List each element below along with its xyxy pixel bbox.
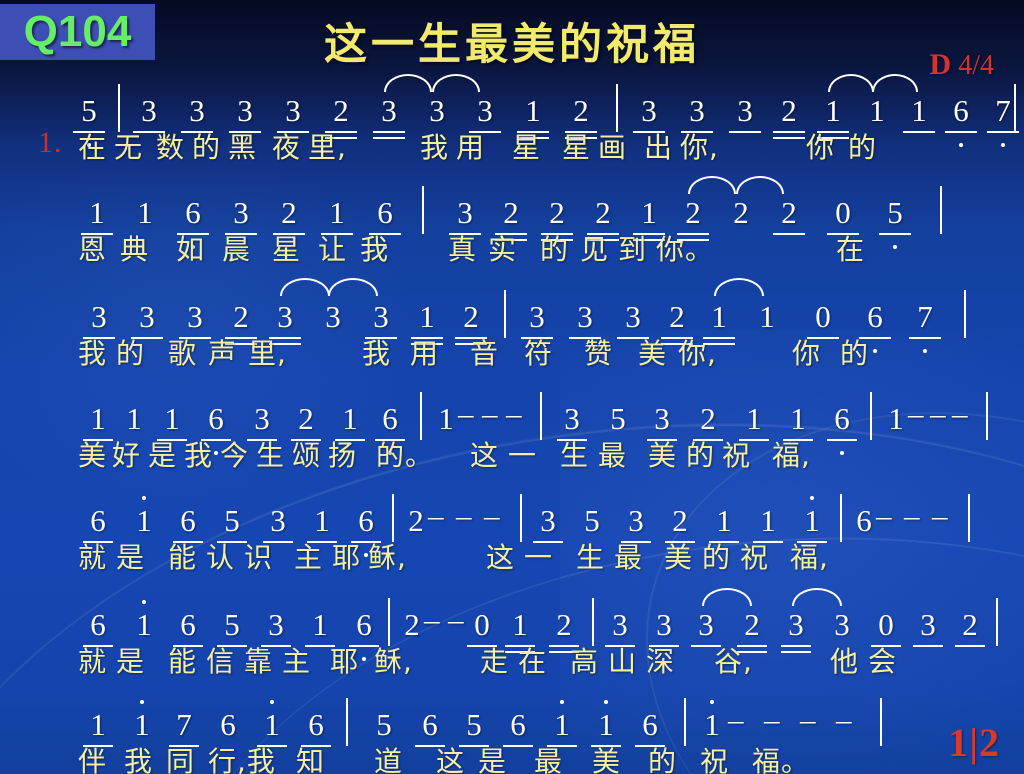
lyric-syllable: 美 bbox=[638, 332, 667, 372]
lyric-syllable: 深 bbox=[646, 640, 675, 680]
lyric-syllable: 耶 bbox=[330, 640, 359, 680]
lyric-syllable: 星 bbox=[272, 228, 301, 268]
lyric-syllable: 星 bbox=[562, 126, 591, 166]
lyric-syllable: 美 bbox=[664, 536, 693, 576]
lyric-syllable: 让 bbox=[318, 228, 347, 268]
lyric-syllable: 美 bbox=[78, 434, 107, 474]
lyric-syllable: 认 bbox=[206, 536, 235, 576]
lyric-syllable: 一 bbox=[508, 434, 537, 474]
lyric-syllable: 是 bbox=[116, 640, 145, 680]
lyric-syllable: 伴 bbox=[78, 740, 107, 774]
lyric-syllable: 福, bbox=[790, 536, 829, 576]
lyric-row-1: 1. 在 无 数 的 黑 夜 里, 我 用 星 星 画 出 你, 你 的 bbox=[0, 126, 1024, 180]
lyric-syllable: 知 bbox=[296, 740, 325, 774]
lyric-syllable: 祝 bbox=[700, 740, 729, 774]
lyric-syllable: 祝 bbox=[740, 536, 769, 576]
lyric-syllable: 的 bbox=[192, 126, 221, 166]
lyric-row-6: 就 是 能 信 靠 主 耶 稣, 走 在 高 山 深 谷, 他 会 bbox=[0, 640, 1024, 696]
lyric-syllable: 里, bbox=[308, 126, 347, 166]
lyric-syllable: 稣, bbox=[374, 640, 413, 680]
lyric-syllable: 同 bbox=[166, 740, 195, 774]
sheet-music: 5 3 3 3 3 2 3 3 3 1 2 3 3 3 2 1 1 1 6 7 bbox=[0, 78, 1024, 774]
lyric-syllable: 见 bbox=[580, 228, 609, 268]
lyric-syllable: 无 bbox=[114, 126, 143, 166]
lyric-syllable: 祝 bbox=[722, 434, 751, 474]
lyric-syllable: 音 bbox=[470, 332, 499, 372]
lyric-syllable: 生 bbox=[576, 536, 605, 576]
lyric-syllable: 会 bbox=[868, 640, 897, 680]
lyric-syllable: 就 bbox=[78, 536, 107, 576]
lyric-syllable: 福, bbox=[772, 434, 811, 474]
lyric-row-2: 恩 典 如 晨 星 让 我 真 实 的 见 到 你。 在 bbox=[0, 228, 1024, 284]
lyric-syllable: 我 bbox=[362, 332, 391, 372]
lyric-syllable: 今 bbox=[220, 434, 249, 474]
lyric-syllable: 一 bbox=[524, 536, 553, 576]
lyric-syllable: 数 bbox=[156, 126, 185, 166]
lyric-syllable: 生 bbox=[560, 434, 589, 474]
lyric-syllable: 的 bbox=[840, 332, 869, 372]
lyric-syllable: 夜 bbox=[272, 126, 301, 166]
note-row-3: 3 3 3 2 3 3 3 1 2 3 3 3 2 1 1 0 6 7 bbox=[0, 284, 1024, 332]
lyric-syllable: 在 bbox=[78, 126, 107, 166]
lyric-syllable: 走 bbox=[480, 640, 509, 680]
lyric-row-5: 就 是 能 认 识 主 耶 稣, 这 一 生 最 美 的 祝 福, bbox=[0, 536, 1024, 594]
lyric-syllable: 识 bbox=[244, 536, 273, 576]
key-signature: D 4/4 bbox=[930, 48, 994, 82]
lyric-syllable: 的。 bbox=[376, 434, 434, 474]
lyric-syllable: 你, bbox=[678, 332, 717, 372]
lyric-syllable: 你, bbox=[680, 126, 719, 166]
lyric-syllable: 的 bbox=[702, 536, 731, 576]
lyric-syllable: 能 bbox=[168, 640, 197, 680]
lyric-syllable: 赞 bbox=[584, 332, 613, 372]
lyric-row-7: 伴 我 同 行,我 知 道 这 是 最 美 的 祝 福。 bbox=[0, 740, 1024, 774]
lyric-syllable: 是 bbox=[116, 536, 145, 576]
lyric-syllable: 好 bbox=[112, 434, 141, 474]
lyric-syllable: 耶 bbox=[332, 536, 361, 576]
note-row-5: 6 1 6 5 3 1 6 2 – – – 3 5 3 2 1 1 1 6 – … bbox=[0, 490, 1024, 536]
lyric-syllable: 就 bbox=[78, 640, 107, 680]
lyric-syllable: 高 bbox=[570, 640, 599, 680]
lyric-syllable: 我 bbox=[124, 740, 153, 774]
lyric-syllable: 典 bbox=[120, 228, 149, 268]
lyric-syllable: 美 bbox=[648, 434, 677, 474]
lyric-syllable: 出 bbox=[644, 126, 673, 166]
note-row-6: 6 1 6 5 3 1 6 2 – – 0 1 2 3 3 3 2 3 3 0 … bbox=[0, 594, 1024, 640]
note-row-7: 1 1 7 6 1 6 5 6 5 6 1 1 6 1 – – – – bbox=[0, 696, 1024, 740]
lyric-syllable: 他 bbox=[830, 640, 859, 680]
lyric-syllable: 我 bbox=[184, 434, 213, 474]
lyric-syllable: 道 bbox=[374, 740, 403, 774]
lyric-syllable: 真 bbox=[448, 228, 477, 268]
lyric-syllable: 这 bbox=[436, 740, 465, 774]
lyric-row-3: 我 的 歌 声 里, 我 用 音 符 赞 美 你, 你 的 bbox=[0, 332, 1024, 388]
lyric-syllable: 如 bbox=[176, 228, 205, 268]
lyric-syllable: 你 bbox=[792, 332, 821, 372]
lyric-syllable: 最 bbox=[598, 434, 627, 474]
lyric-syllable: 恩 bbox=[78, 228, 107, 268]
lyric-syllable: 能 bbox=[168, 536, 197, 576]
note-row-1: 5 3 3 3 3 2 3 3 3 1 2 3 3 3 2 1 1 1 6 7 bbox=[0, 78, 1024, 126]
lyric-syllable: 是 bbox=[478, 740, 507, 774]
lyric-syllable: 谷, bbox=[714, 640, 753, 680]
key-letter: D bbox=[930, 48, 952, 81]
lyric-syllable: 晨 bbox=[222, 228, 251, 268]
lyric-syllable: 福。 bbox=[752, 740, 810, 774]
lyric-syllable: 声 bbox=[208, 332, 237, 372]
note-row-2: 1 1 6 3 2 1 6 3 2 2 2 1 2 2 2 0 5 bbox=[0, 180, 1024, 228]
lyric-syllable: 这 bbox=[470, 434, 499, 474]
lyric-syllable: 行,我 bbox=[208, 740, 276, 774]
lyric-syllable: 我 bbox=[360, 228, 389, 268]
verse-number: 1. bbox=[38, 126, 63, 160]
lyric-syllable: 最 bbox=[614, 536, 643, 576]
lyric-syllable: 美 bbox=[592, 740, 621, 774]
lyric-syllable: 用 bbox=[410, 332, 439, 372]
lyric-syllable: 你。 bbox=[656, 228, 714, 268]
lyric-syllable: 颂 bbox=[292, 434, 321, 474]
lyric-syllable: 的 bbox=[540, 228, 569, 268]
slide-canvas: Q104 这一生最美的祝福 D 4/4 1|2 5 3 3 3 3 2 3 3 … bbox=[0, 0, 1024, 774]
lyric-syllable: 的 bbox=[648, 740, 677, 774]
lyric-syllable: 是 bbox=[148, 434, 177, 474]
lyric-row-4: 美 好 是 我 今 生 颂 扬 的。 这 一 生 最 美 的 祝 福, bbox=[0, 434, 1024, 490]
lyric-syllable: 我 bbox=[78, 332, 107, 372]
lyric-syllable: 稣, bbox=[368, 536, 407, 576]
lyric-syllable: 的 bbox=[116, 332, 145, 372]
page-title: 这一生最美的祝福 bbox=[0, 10, 1024, 72]
lyric-syllable: 的 bbox=[686, 434, 715, 474]
lyric-syllable: 靠 bbox=[244, 640, 273, 680]
time-signature: 4/4 bbox=[958, 50, 994, 81]
lyric-syllable: 画 bbox=[598, 126, 627, 166]
lyric-syllable: 里, bbox=[248, 332, 287, 372]
lyric-syllable: 你 bbox=[806, 126, 835, 166]
lyric-syllable: 我 bbox=[420, 126, 449, 166]
lyric-syllable: 星 bbox=[512, 126, 541, 166]
lyric-syllable: 生 bbox=[256, 434, 285, 474]
lyric-syllable: 的 bbox=[848, 126, 877, 166]
lyric-syllable: 这 bbox=[486, 536, 515, 576]
lyric-syllable: 歌 bbox=[168, 332, 197, 372]
lyric-syllable: 扬 bbox=[328, 434, 357, 474]
lyric-syllable: 主 bbox=[294, 536, 323, 576]
lyric-syllable: 实 bbox=[488, 228, 517, 268]
note-row-4: 1 1 1 6 3 2 1 6 1 – – – 3 5 3 2 1 1 6 1 … bbox=[0, 388, 1024, 434]
lyric-syllable: 在 bbox=[518, 640, 547, 680]
lyric-syllable: 主 bbox=[282, 640, 311, 680]
lyric-syllable: 在 bbox=[836, 228, 865, 268]
lyric-syllable: 到 bbox=[618, 228, 647, 268]
lyric-syllable: 黑 bbox=[228, 126, 257, 166]
lyric-syllable: 山 bbox=[608, 640, 637, 680]
lyric-syllable: 用 bbox=[456, 126, 485, 166]
lyric-syllable: 最 bbox=[534, 740, 563, 774]
lyric-syllable: 符 bbox=[524, 332, 553, 372]
lyric-syllable: 信 bbox=[206, 640, 235, 680]
